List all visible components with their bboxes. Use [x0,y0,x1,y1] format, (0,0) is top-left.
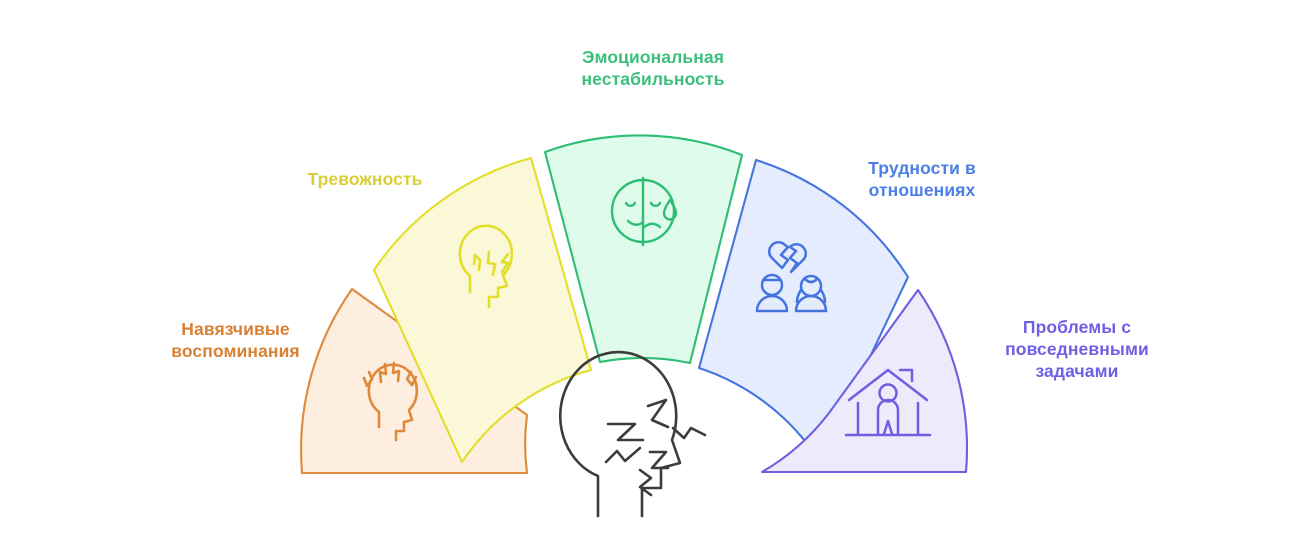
segment-label-daily: Проблемы с повседневными задачами [962,316,1192,382]
segment-label-relations: Трудности в отношениях [812,157,1032,201]
head-with-chaotic-thoughts-icon [560,352,705,516]
segment-label-anxiety: Тревожность [255,168,475,190]
segment-label-intrusive: Навязчивые воспоминания [128,318,343,362]
segment-label-emotional: Эмоциональная нестабильность [543,46,763,90]
radial-fan-diagram: Эмоциональная нестабильность Тревожность… [0,0,1300,546]
